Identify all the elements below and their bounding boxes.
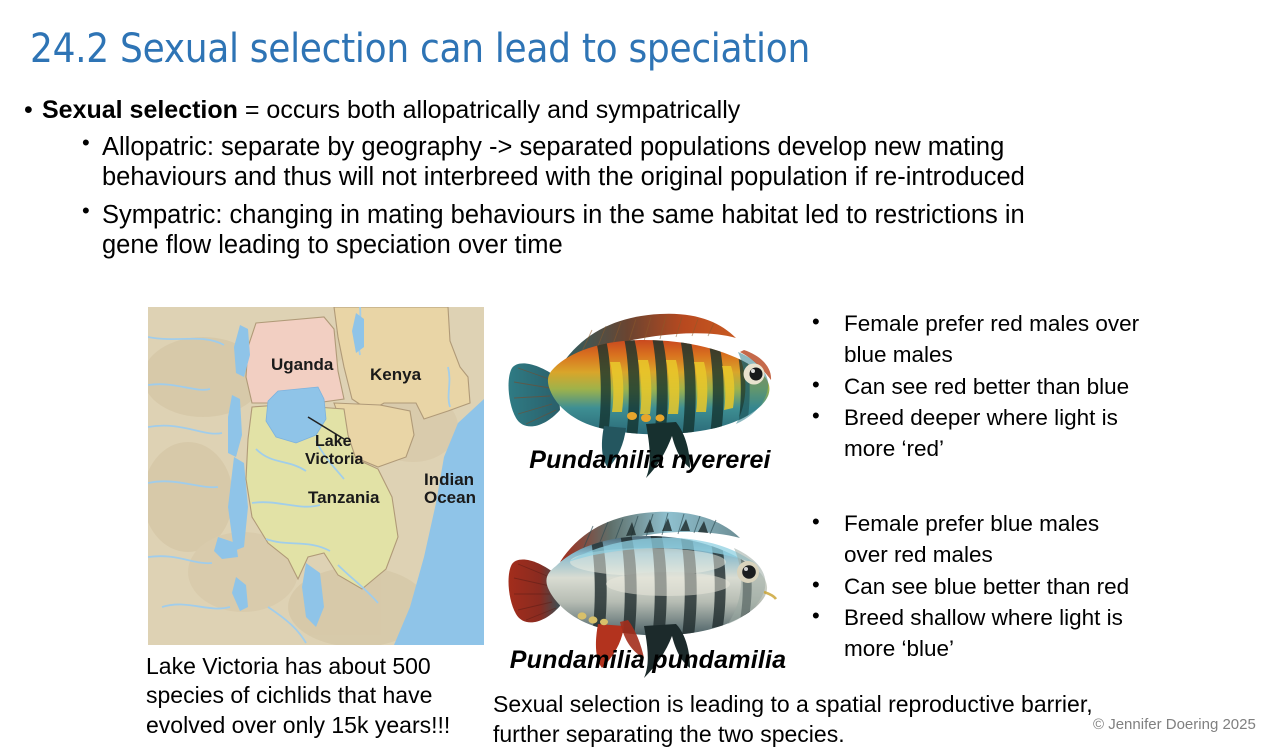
bullet-level2-sympatric-line2: gene flow leading to speciation over tim… [102, 230, 1266, 260]
bullet-glyph-icon: • [82, 130, 90, 156]
trait-line: Can see red better than blue [844, 371, 1186, 402]
bullet-glyph-icon: • [812, 370, 820, 401]
map-island-pemba [406, 466, 414, 484]
trait-line: more ‘blue’ [844, 633, 1186, 664]
trait-line: Can see blue better than red [844, 571, 1186, 602]
trait-item: • Can see blue better than red [806, 571, 1186, 602]
map-caption-line2: species of cichlids that have [146, 681, 486, 710]
trait-item: • Female prefer red males over blue male… [806, 308, 1186, 371]
bullet-glyph-icon: • [24, 96, 33, 125]
bullet-level2-allopatric-line1: Allopatric: separate by geography -> sep… [102, 132, 1266, 162]
mouth [764, 592, 776, 599]
bullet-glyph-icon: • [812, 601, 820, 632]
trait-line: over red males [844, 539, 1186, 570]
trait-list-nyererei: • Female prefer red males over blue male… [806, 308, 1186, 464]
bullet-glyph-icon: • [812, 507, 820, 538]
trait-line: Female prefer red males over [844, 308, 1186, 339]
copyright-notice: © Jennifer Doering 2025 [1093, 716, 1256, 733]
map-label-lake-victoria-2: Victoria [305, 451, 364, 468]
trait-list-pundamilia: • Female prefer blue males over red male… [806, 508, 1186, 664]
map-island-zanzibar [399, 494, 409, 516]
fish-species-name: Pundamilia pundamilia [498, 646, 798, 675]
trait-line: Breed shallow where light is [844, 602, 1186, 633]
map-label-kenya: Kenya [370, 365, 422, 384]
map-label-uganda: Uganda [271, 355, 334, 374]
bottom-caption-line1: Sexual selection is leading to a spatial… [493, 690, 1113, 720]
map-image: Uganda Kenya Lake Victoria Tanzania Indi… [148, 307, 484, 645]
bullet-level1-rest: = occurs both allopatrically and sympatr… [238, 96, 740, 124]
bullet-level1: •Sexual selection = occurs both allopatr… [14, 96, 1266, 125]
bottom-caption-line2: further separating the two species. [493, 720, 1113, 750]
map-caption: Lake Victoria has about 500 species of c… [146, 652, 486, 740]
trait-line: more ‘red’ [844, 433, 1186, 464]
trait-item: • Breed shallow where light is more ‘blu… [806, 602, 1186, 665]
eye-pupil [742, 565, 756, 579]
bullet-list: •Sexual selection = occurs both allopatr… [14, 96, 1266, 260]
trait-line: Female prefer blue males [844, 508, 1186, 539]
trait-line: blue males [844, 339, 1186, 370]
map-label-lake-victoria-1: Lake [315, 433, 352, 450]
bottom-caption: Sexual selection is leading to a spatial… [493, 690, 1113, 750]
eye-glint [744, 567, 748, 571]
bullet-glyph-icon: • [812, 570, 820, 601]
eye-glint [751, 369, 755, 373]
bullet-level2-allopatric-line2: behaviours and thus will not interbreed … [102, 162, 1266, 192]
map-label-indian-ocean-2: Ocean [424, 488, 476, 507]
bullet-glyph-icon: • [812, 401, 820, 432]
map-caption-line3: evolved over only 15k years!!! [146, 711, 486, 740]
bullet-level2-sympatric-line1: Sympatric: changing in mating behaviours… [102, 200, 1266, 230]
trait-item: • Can see red better than blue [806, 371, 1186, 402]
map-label-indian-ocean-1: Indian [424, 470, 474, 489]
map-caption-line1: Lake Victoria has about 500 [146, 652, 486, 681]
bullet-level2-allopatric: • Allopatric: separate by geography -> s… [76, 132, 1266, 193]
eye-pupil [750, 368, 763, 381]
trait-item: • Breed deeper where light is more ‘red’ [806, 402, 1186, 465]
fish-species-name: Pundamilia nyererei [500, 446, 800, 475]
trait-item: • Female prefer blue males over red male… [806, 508, 1186, 571]
map-label-tanzania: Tanzania [308, 488, 380, 507]
bullet-level2-sympatric: • Sympatric: changing in mating behaviou… [76, 200, 1266, 261]
trait-line: Breed deeper where light is [844, 402, 1186, 433]
bullet-glyph-icon: • [812, 307, 820, 338]
bullet-glyph-icon: • [82, 198, 90, 224]
page-title: 24.2 Sexual selection can lead to specia… [30, 28, 810, 70]
bullet-level1-strong: Sexual selection [42, 96, 238, 124]
